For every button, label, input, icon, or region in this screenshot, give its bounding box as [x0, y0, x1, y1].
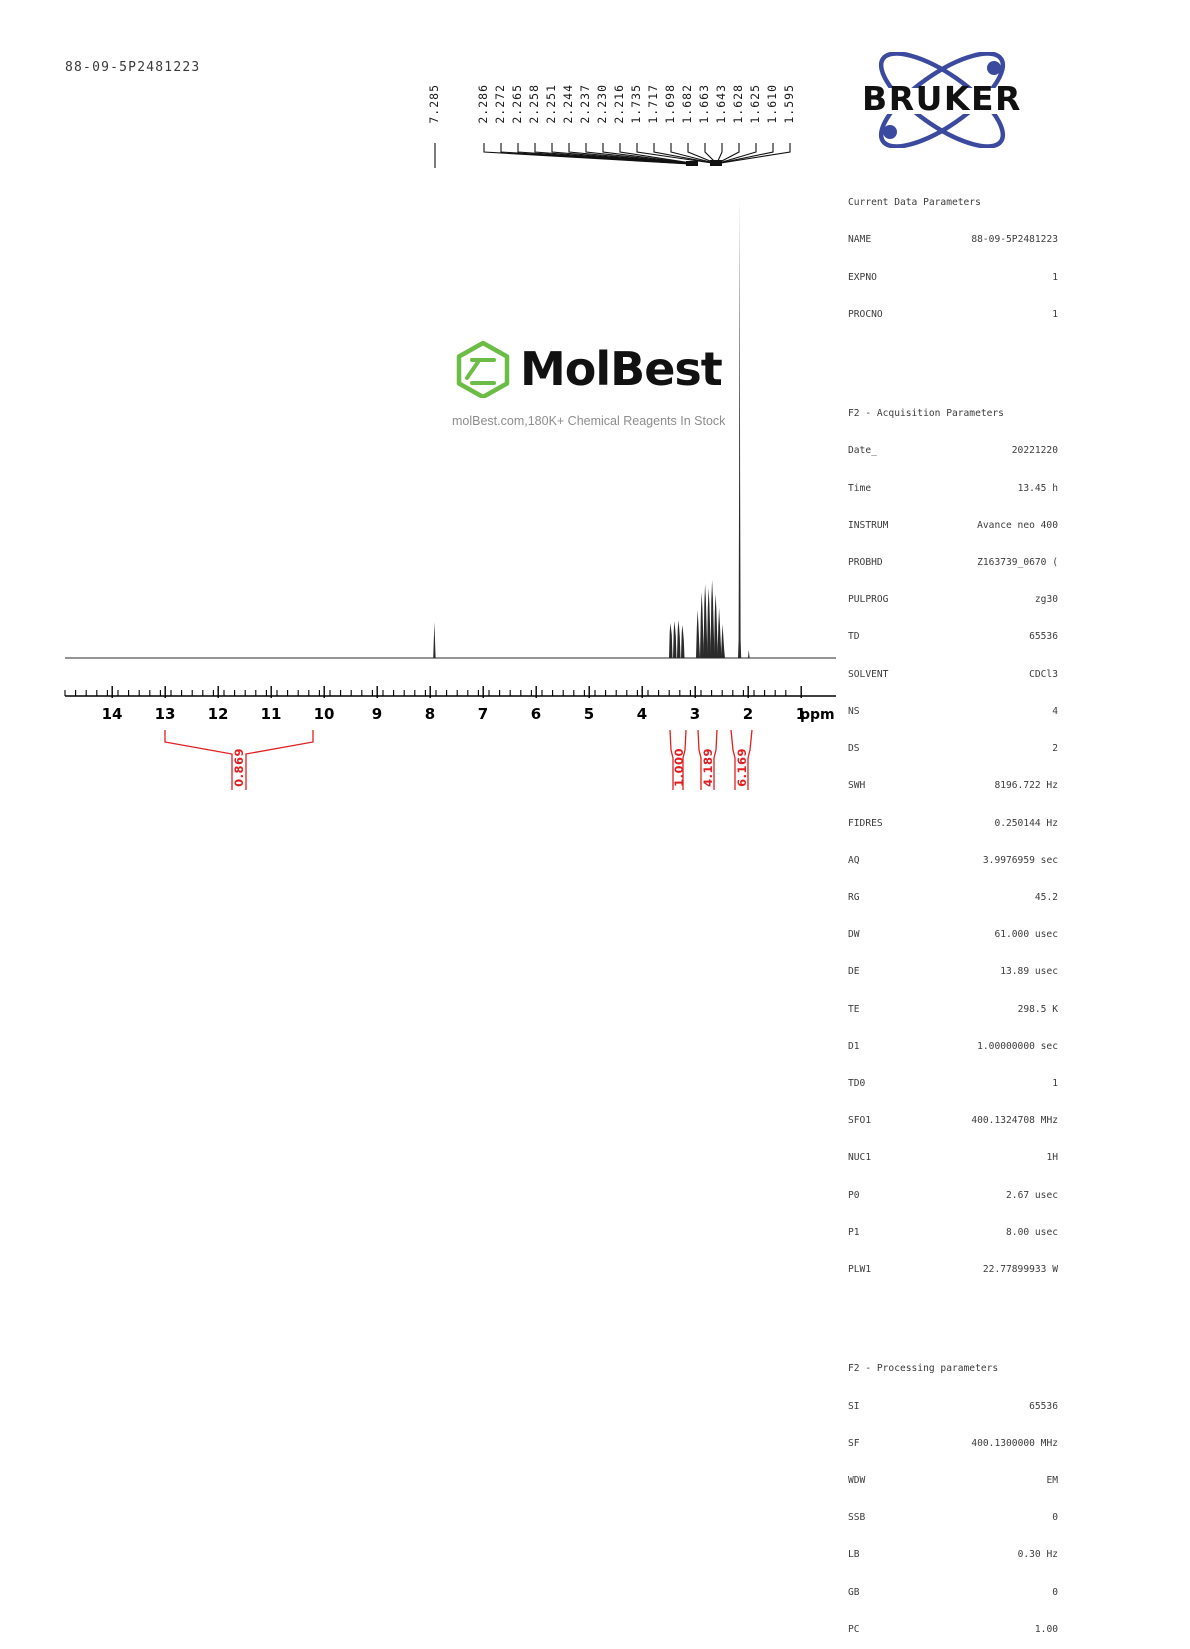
param-key: SFO1	[848, 1115, 871, 1127]
axis-tick-label: 14	[102, 705, 123, 723]
param-value: 65536	[1029, 1401, 1058, 1413]
peak-cluster-marker-a	[686, 161, 698, 166]
param-key: TE	[848, 1004, 860, 1016]
peak-cluster-marker-b	[710, 160, 722, 166]
param-key: SI	[848, 1401, 860, 1413]
axis-tick-label: 3	[690, 705, 700, 723]
param-row: NUC11H	[848, 1152, 1058, 1164]
param-row: WDWEM	[848, 1475, 1058, 1487]
param-value: 1H	[1046, 1152, 1058, 1164]
molbest-tagline: molBest.com,180K+ Chemical Reagents In S…	[452, 414, 752, 428]
axis-tick-label: 4	[637, 705, 647, 723]
param-row: D11.00000000 sec	[848, 1041, 1058, 1053]
integration-value: 0.869	[234, 748, 246, 787]
spectrum-trace	[0, 180, 1190, 680]
param-row: PC1.00	[848, 1624, 1058, 1636]
param-value: 8.00 usec	[1006, 1227, 1058, 1239]
param-key: GB	[848, 1587, 860, 1599]
axis-tick-label: 9	[372, 705, 382, 723]
param-row: LB0.30 Hz	[848, 1549, 1058, 1561]
param-row: TD01	[848, 1078, 1058, 1090]
integration-value: 4.189	[703, 748, 715, 787]
param-key: TD0	[848, 1078, 865, 1090]
molbest-hexagon-logo-icon	[452, 340, 514, 398]
param-row: PLW122.77899933 W	[848, 1264, 1058, 1276]
axis-unit-label: ppm	[800, 707, 835, 723]
param-value: 13.89 usec	[1000, 966, 1058, 978]
axis-tick-label: 13	[155, 705, 176, 723]
param-key: PC	[848, 1624, 860, 1636]
param-key: LB	[848, 1549, 860, 1561]
param-row: P02.67 usec	[848, 1190, 1058, 1202]
param-key: FIDRES	[848, 818, 883, 830]
param-value: 0.250144 Hz	[994, 818, 1058, 830]
param-value: 0	[1052, 1512, 1058, 1524]
param-key: NUC1	[848, 1152, 871, 1164]
spectrum-peaks	[433, 198, 749, 658]
axis-minor-ticks	[65, 690, 786, 696]
peak-leader-lines	[0, 0, 1190, 175]
param-row: SSB0	[848, 1512, 1058, 1524]
param-key: P1	[848, 1227, 860, 1239]
axis-tick-label: 7	[478, 705, 488, 723]
molbest-wordmark: MolBest	[520, 346, 722, 392]
params-spacer	[848, 1314, 1058, 1326]
param-row: SI65536	[848, 1401, 1058, 1413]
param-key: P0	[848, 1190, 860, 1202]
param-key: PLW1	[848, 1264, 871, 1276]
integration-values: 0.869 1.000 4.189 6.169	[0, 744, 1190, 800]
param-value: 1	[1052, 1078, 1058, 1090]
integration-value: 6.169	[737, 748, 749, 787]
molbest-watermark: MolBest molBest.com,180K+ Chemical Reage…	[452, 340, 752, 428]
param-value: EM	[1046, 1475, 1058, 1487]
axis-tick-label: 11	[261, 705, 282, 723]
param-row: SFO1400.1324708 MHz	[848, 1115, 1058, 1127]
param-key: DE	[848, 966, 860, 978]
integration-value: 1.000	[674, 748, 686, 787]
param-value: 3.9976959 sec	[983, 855, 1058, 867]
param-key: RG	[848, 892, 860, 904]
param-key: AQ	[848, 855, 860, 867]
param-row: P18.00 usec	[848, 1227, 1058, 1239]
param-value: 2.67 usec	[1006, 1190, 1058, 1202]
axis-tick-label: 8	[425, 705, 435, 723]
axis-tick-label: 5	[584, 705, 594, 723]
axis-tick-label: 6	[531, 705, 541, 723]
axis-tick-label: 12	[208, 705, 229, 723]
param-row: AQ3.9976959 sec	[848, 855, 1058, 867]
param-value: 0.30 Hz	[1018, 1549, 1058, 1561]
param-row: FIDRES0.250144 Hz	[848, 818, 1058, 830]
param-key: SSB	[848, 1512, 865, 1524]
param-row: GB0	[848, 1587, 1058, 1599]
param-row: DE13.89 usec	[848, 966, 1058, 978]
param-row: TE298.5 K	[848, 1004, 1058, 1016]
param-row: RG45.2	[848, 892, 1058, 904]
param-value: 400.1300000 MHz	[971, 1438, 1058, 1450]
param-value: 298.5 K	[1018, 1004, 1058, 1016]
params-section-heading: F2 - Processing parameters	[848, 1363, 1058, 1375]
param-value: 1.00	[1035, 1624, 1058, 1636]
peak-label-column: 7.285 2.286 2.272 2.265 2.258 2.251 2.24…	[0, 0, 1190, 175]
param-row: DW61.000 usec	[848, 929, 1058, 941]
axis-tick-label: 2	[743, 705, 753, 723]
param-row: SF400.1300000 MHz	[848, 1438, 1058, 1450]
axis-tick-label: 10	[314, 705, 335, 723]
param-value: 1.00000000 sec	[977, 1041, 1058, 1053]
param-key: DW	[848, 929, 860, 941]
param-value: 61.000 usec	[994, 929, 1058, 941]
param-value: 22.77899933 W	[983, 1264, 1058, 1276]
param-value: 45.2	[1035, 892, 1058, 904]
param-key: WDW	[848, 1475, 865, 1487]
param-key: SF	[848, 1438, 860, 1450]
param-value: 0	[1052, 1587, 1058, 1599]
param-value: 400.1324708 MHz	[971, 1115, 1058, 1127]
param-key: D1	[848, 1041, 860, 1053]
